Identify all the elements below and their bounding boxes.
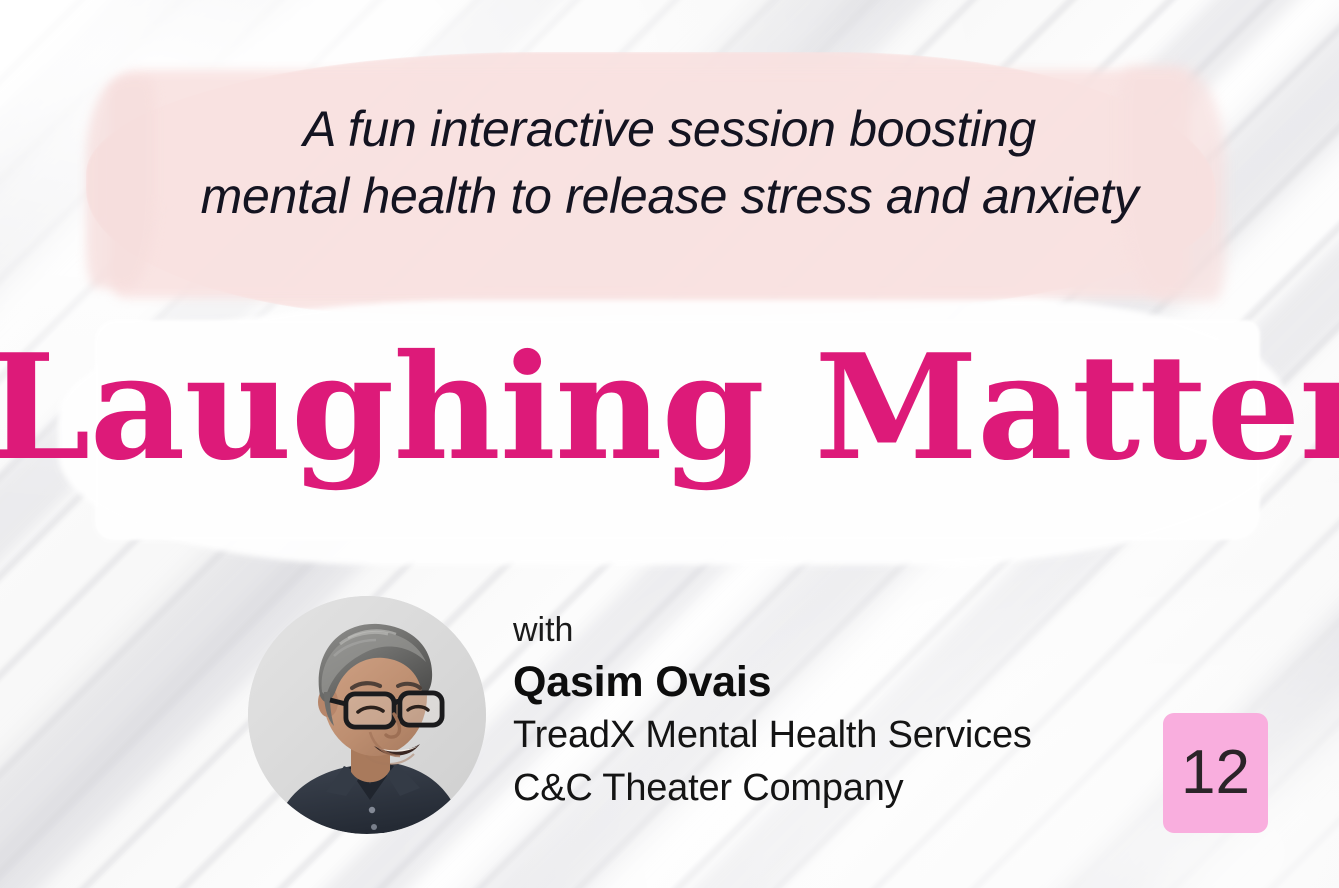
avatar: [248, 596, 486, 834]
speaker-name: Qasim Ovais: [513, 656, 1032, 709]
with-label: with: [513, 610, 1032, 650]
slide-number-badge: 12: [1163, 713, 1268, 833]
avatar-portrait-icon: [248, 596, 486, 834]
speaker-org-line-2: C&C Theater Company: [513, 762, 1032, 814]
speaker-text: with Qasim Ovais TreadX Mental Health Se…: [513, 610, 1032, 820]
session-subtitle: A fun interactive session boosting menta…: [0, 96, 1339, 229]
speaker-org-line-1: TreadX Mental Health Services: [513, 709, 1032, 761]
subtitle-line-1: A fun interactive session boosting: [0, 96, 1339, 163]
speaker-block: with Qasim Ovais TreadX Mental Health Se…: [248, 596, 1032, 834]
subtitle-line-2: mental health to release stress and anxi…: [0, 163, 1339, 230]
slide-canvas: A fun interactive session boosting menta…: [0, 0, 1339, 888]
page-title: Laughing Matters: [0, 332, 1339, 484]
